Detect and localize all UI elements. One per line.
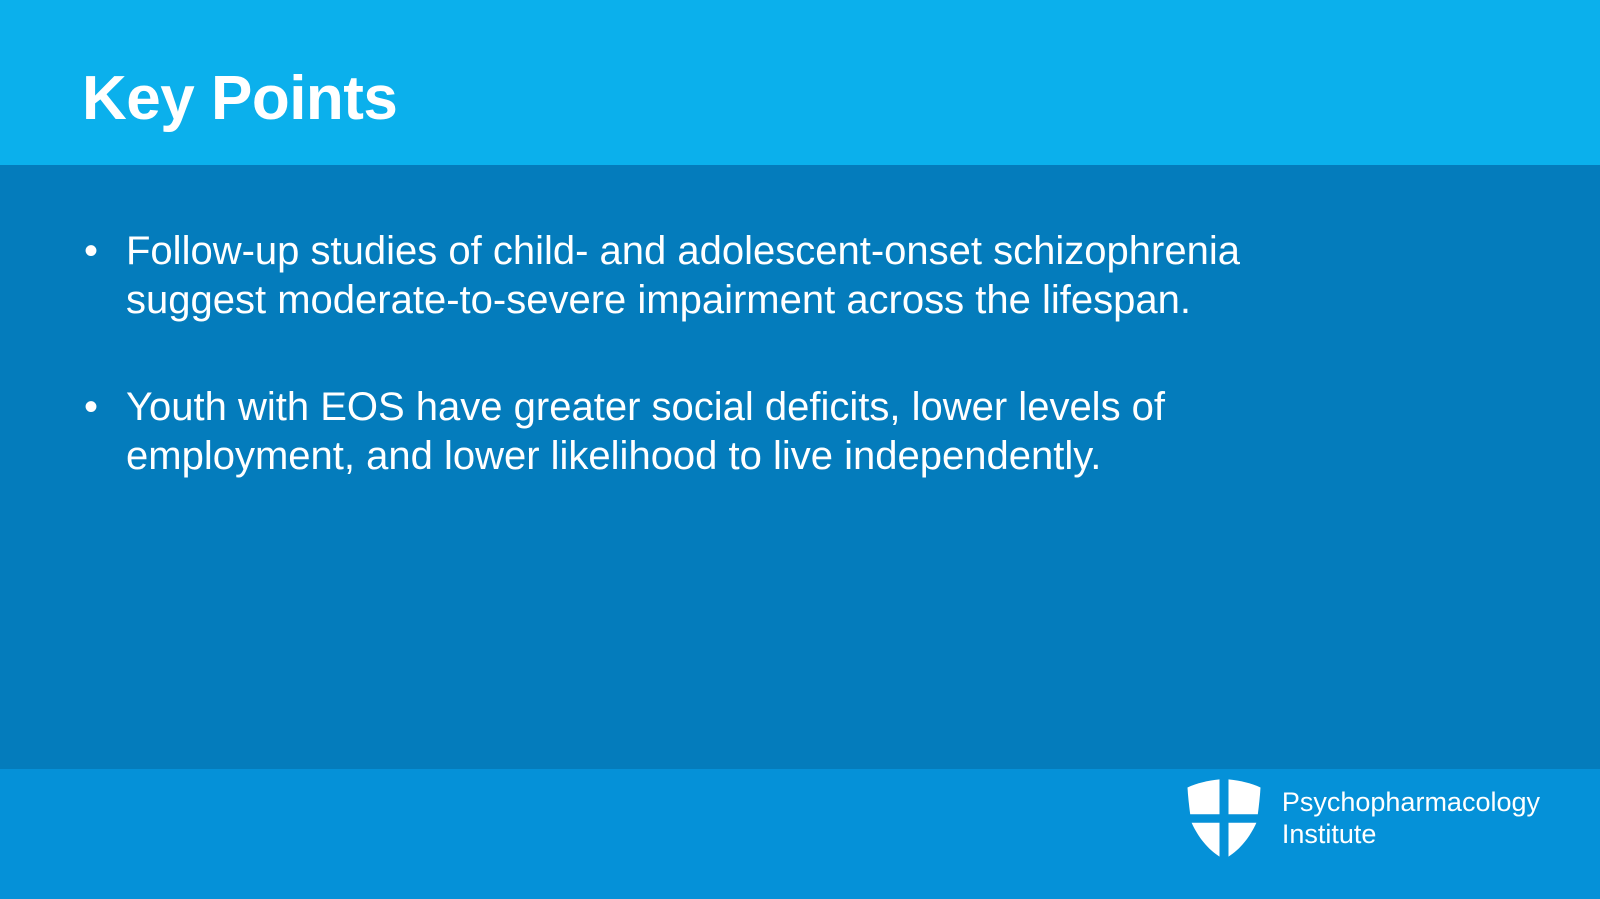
list-item: • Follow-up studies of child- and adoles… (78, 227, 1371, 325)
bullet-text: Follow-up studies of child- and adolesce… (126, 229, 1240, 322)
slide-content-area: • Follow-up studies of child- and adoles… (0, 165, 1600, 769)
brand-lockup: Psychopharmacology Institute (1184, 777, 1540, 861)
slide-header-band: Key Points (0, 0, 1600, 165)
list-item: • Youth with EOS have greater social def… (78, 383, 1371, 481)
bullet-point-icon: • (84, 383, 104, 432)
bullet-point-icon: • (84, 227, 104, 276)
slide-footer-band: Psychopharmacology Institute (0, 769, 1600, 899)
shield-logo-icon (1184, 777, 1264, 861)
key-points-bullet-list: • Follow-up studies of child- and adoles… (78, 227, 1378, 481)
page-title: Key Points (82, 68, 397, 130)
brand-name-line-2: Institute (1282, 819, 1540, 851)
brand-name: Psychopharmacology Institute (1282, 787, 1540, 851)
bullet-text: Youth with EOS have greater social defic… (126, 385, 1165, 478)
slide: Key Points • Follow-up studies of child-… (0, 0, 1600, 899)
brand-name-line-1: Psychopharmacology (1282, 787, 1540, 819)
